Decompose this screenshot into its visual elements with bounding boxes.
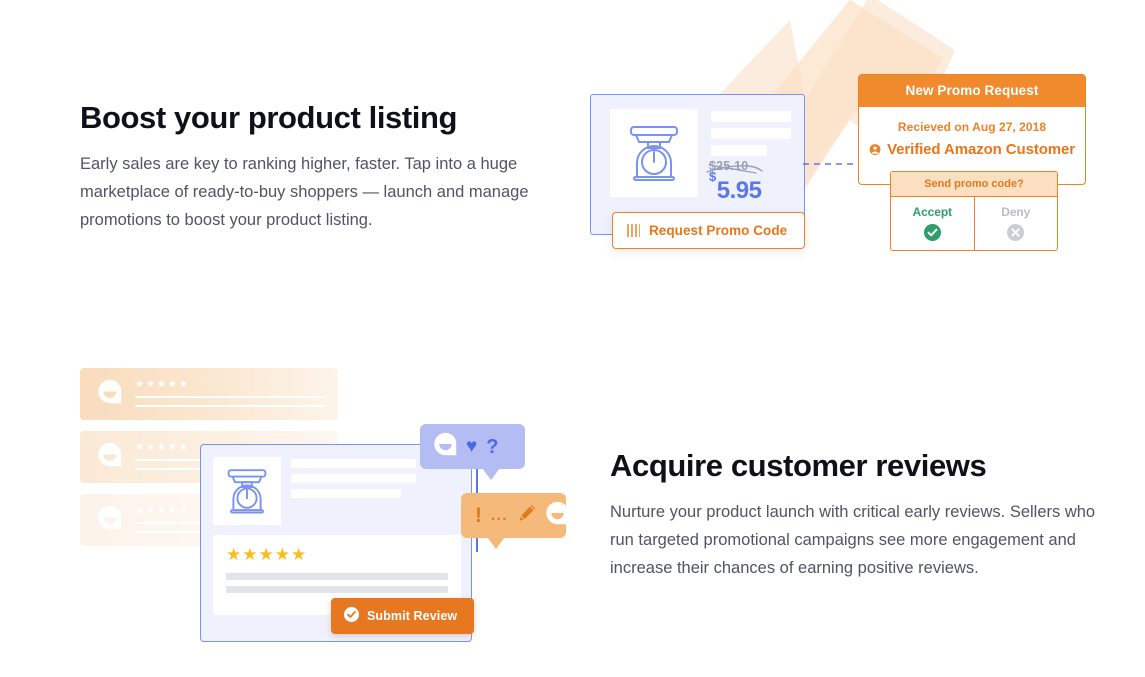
star-icon: ★ xyxy=(157,443,166,453)
deny-button[interactable]: Deny xyxy=(975,197,1058,250)
star-icon[interactable]: ★ xyxy=(291,546,306,563)
price-group: $25.10 $5.95 xyxy=(709,157,761,203)
question-mark-icon: ? xyxy=(486,437,498,457)
placeholder-line xyxy=(226,573,448,580)
sale-price-value: 5.95 xyxy=(717,177,762,204)
star-icon: ★ xyxy=(135,380,144,390)
barcode-icon xyxy=(627,224,640,237)
placeholder-line xyxy=(711,145,767,156)
placeholder-line xyxy=(711,111,791,122)
page-title-secondary: Acquire customer reviews xyxy=(610,448,1100,484)
bubble-tail xyxy=(482,468,500,480)
placeholder-line xyxy=(135,405,325,407)
star-icon: ★ xyxy=(135,506,144,516)
accept-button[interactable]: Accept xyxy=(891,197,975,250)
star-icon: ★ xyxy=(168,443,177,453)
star-icon: ★ xyxy=(146,443,155,453)
bubble-tail xyxy=(487,537,505,549)
star-icon[interactable]: ★ xyxy=(259,546,274,563)
sale-price: $5.95 xyxy=(709,178,761,203)
kitchen-scale-icon xyxy=(623,123,685,183)
new-promo-request-panel: New Promo Request Recieved on Aug 27, 20… xyxy=(858,74,1086,185)
star-icon: ★ xyxy=(179,506,188,516)
placeholder-line xyxy=(711,128,791,139)
promo-received-date: Recieved on Aug 27, 2018 xyxy=(869,120,1075,134)
product-thumbnail xyxy=(610,109,698,197)
star-icon: ★ xyxy=(168,380,177,390)
star-rating: ★★★★★ xyxy=(135,380,188,390)
boost-listing-body: Early sales are key to ranking higher, f… xyxy=(80,150,570,234)
star-icon: ★ xyxy=(179,443,188,453)
check-circle-icon xyxy=(344,607,359,625)
placeholder-line xyxy=(291,459,416,468)
accept-label: Accept xyxy=(891,205,974,219)
avatar xyxy=(98,379,122,409)
chat-face-icon xyxy=(546,501,569,530)
star-icon: ★ xyxy=(146,380,155,390)
send-promo-prompt: Send promo code? xyxy=(891,172,1057,197)
ellipsis-icon: ... xyxy=(491,508,508,523)
verified-customer-row: Verified Amazon Customer xyxy=(869,141,1075,158)
acquire-reviews-body: Nurture your product launch with critica… xyxy=(610,498,1100,582)
exclamation-icon: ! xyxy=(475,505,482,526)
verified-customer-label: Verified Amazon Customer xyxy=(887,141,1075,158)
product-thumbnail xyxy=(213,457,281,525)
boost-listing-text-block: Boost your product listing Early sales a… xyxy=(80,100,570,234)
star-icon: ★ xyxy=(157,380,166,390)
check-circle-icon xyxy=(891,224,974,241)
star-icon: ★ xyxy=(135,443,144,453)
submit-review-label: Submit Review xyxy=(367,609,457,623)
request-promo-code-label: Request Promo Code xyxy=(649,223,787,238)
heart-icon: ♥ xyxy=(466,437,477,456)
star-icon[interactable]: ★ xyxy=(275,546,290,563)
page-title: Boost your product listing xyxy=(80,100,570,136)
review-text-placeholders xyxy=(135,396,325,414)
kitchen-scale-icon xyxy=(222,467,272,515)
x-circle-icon xyxy=(975,224,1058,241)
star-rating: ★★★★★ xyxy=(135,443,188,453)
placeholder-line xyxy=(135,396,325,398)
star-icon: ★ xyxy=(157,506,166,516)
review-product-placeholders xyxy=(291,459,416,504)
acquire-reviews-text-block: Acquire customer reviews Nurture your pr… xyxy=(610,448,1100,582)
engagement-bubble-orange: ! ... xyxy=(461,493,566,538)
list-item: ★★★★★ xyxy=(80,368,338,420)
star-icon[interactable]: ★ xyxy=(226,546,241,563)
placeholder-line xyxy=(291,474,416,483)
star-rating[interactable]: ★★★★★ xyxy=(226,546,306,563)
request-promo-code-button[interactable]: Request Promo Code xyxy=(612,212,805,249)
currency-symbol: $ xyxy=(709,169,716,184)
placeholder-line xyxy=(226,586,448,593)
page-root: Boost your product listing Early sales a… xyxy=(0,0,1145,677)
accept-deny-row: Accept Deny xyxy=(891,197,1057,250)
pencil-icon xyxy=(517,503,537,528)
engagement-bubble-blue: ♥ ? xyxy=(420,424,525,469)
placeholder-line xyxy=(291,489,401,498)
promo-panel-header: New Promo Request xyxy=(859,75,1085,107)
star-icon: ★ xyxy=(146,506,155,516)
star-icon: ★ xyxy=(168,506,177,516)
user-circle-icon xyxy=(869,142,881,157)
review-body-placeholders xyxy=(226,573,448,599)
product-text-placeholders xyxy=(711,111,791,162)
chat-face-icon xyxy=(434,432,457,461)
avatar xyxy=(98,442,122,472)
star-icon[interactable]: ★ xyxy=(242,546,257,563)
star-icon: ★ xyxy=(179,380,188,390)
avatar xyxy=(98,505,122,535)
deny-label: Deny xyxy=(975,205,1058,219)
star-rating: ★★★★★ xyxy=(135,506,188,516)
send-promo-code-widget: Send promo code? Accept Deny xyxy=(890,171,1058,251)
submit-review-button[interactable]: Submit Review xyxy=(331,598,474,634)
